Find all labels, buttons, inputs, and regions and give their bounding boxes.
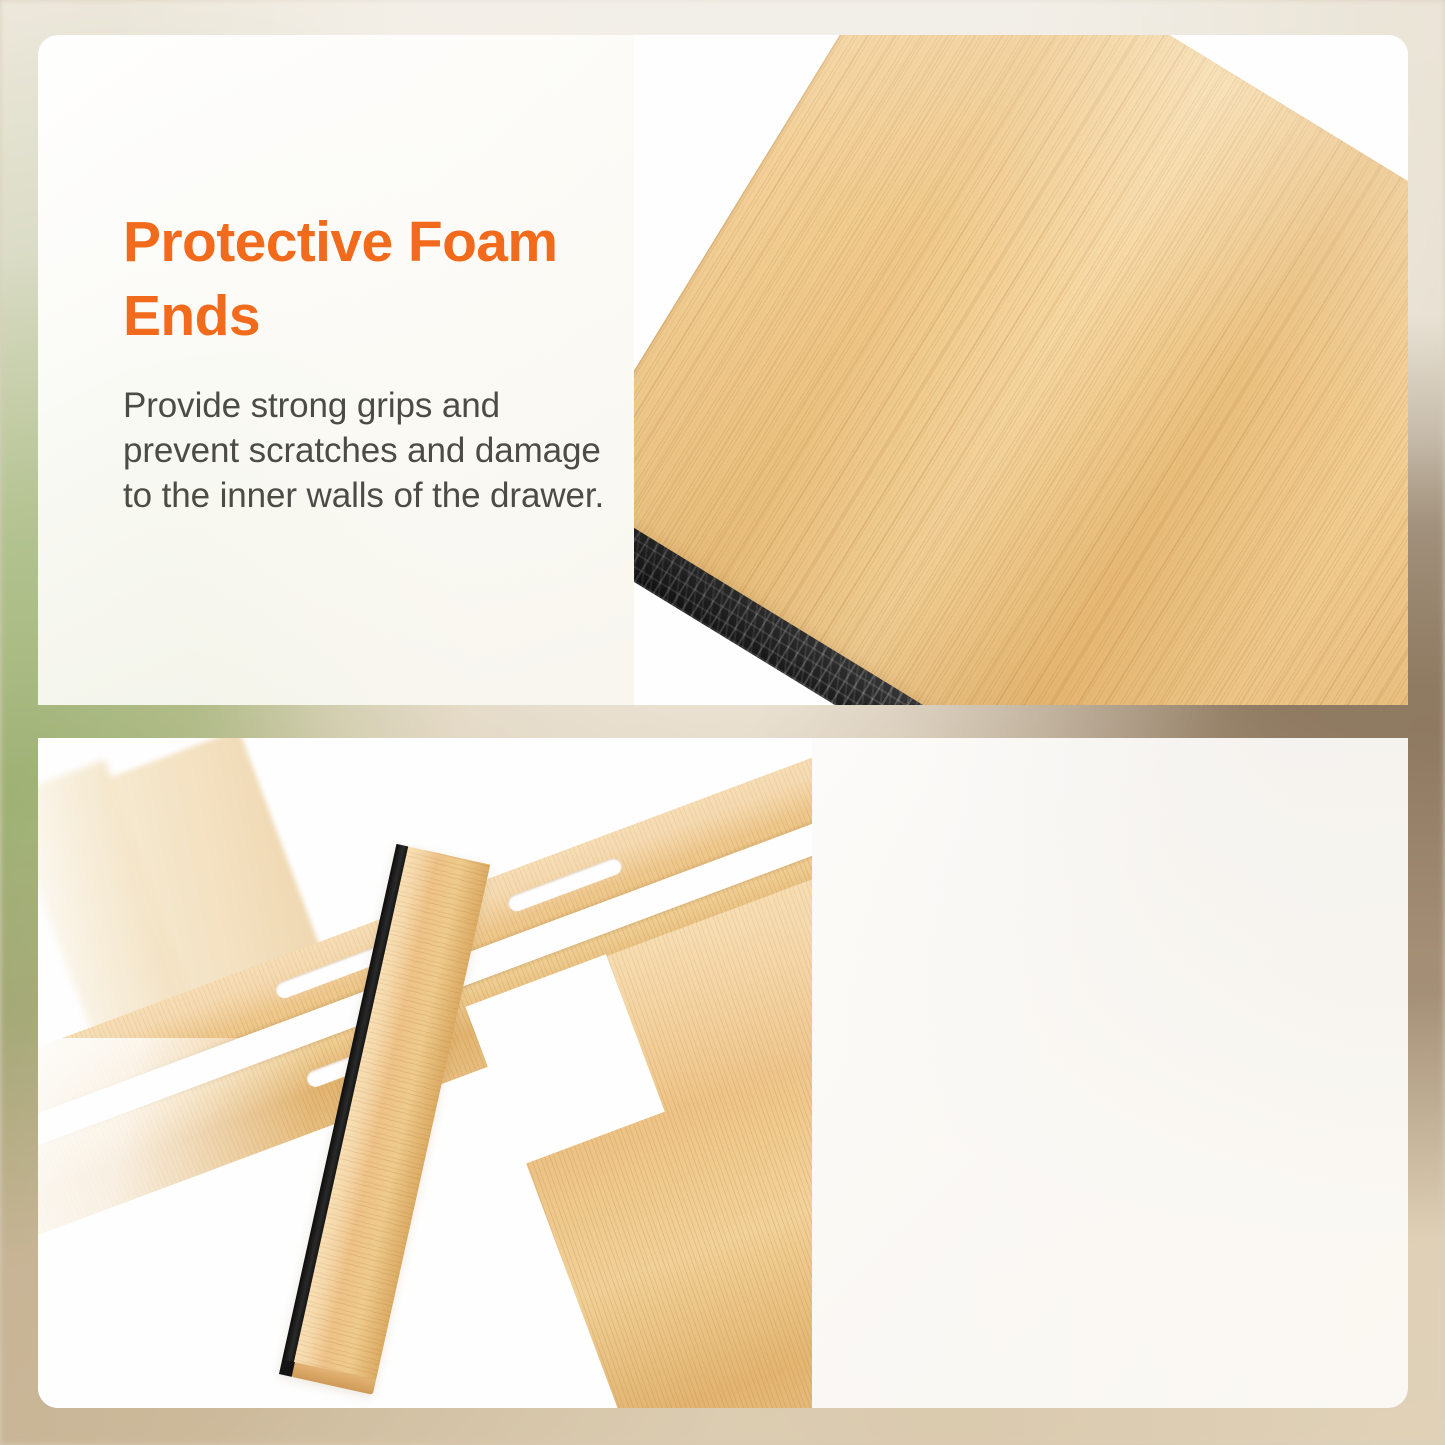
foam-ends-body: Provide strong grips and prevent scratch… xyxy=(123,383,623,518)
feature-card-foam-ends: Protective Foam Ends Provide strong grip… xyxy=(38,35,634,705)
drawer-divider-photo xyxy=(38,738,812,1408)
photo-left-fade xyxy=(38,1038,328,1288)
foam-ends-heading: Protective Foam Ends xyxy=(123,205,623,353)
bamboo-board xyxy=(634,35,1408,705)
bamboo-board-photo xyxy=(634,35,1408,705)
foam-ends-photo-card xyxy=(634,35,1408,705)
spring-loaded-photo-card xyxy=(38,738,812,1408)
feature-card-spring-loaded: Adjustable Spring-Loaded Fit most drawer… xyxy=(812,738,1408,1408)
foam-ends-text-block: Protective Foam Ends Provide strong grip… xyxy=(123,205,623,519)
product-feature-graphic: Protective Foam Ends Provide strong grip… xyxy=(0,0,1445,1445)
